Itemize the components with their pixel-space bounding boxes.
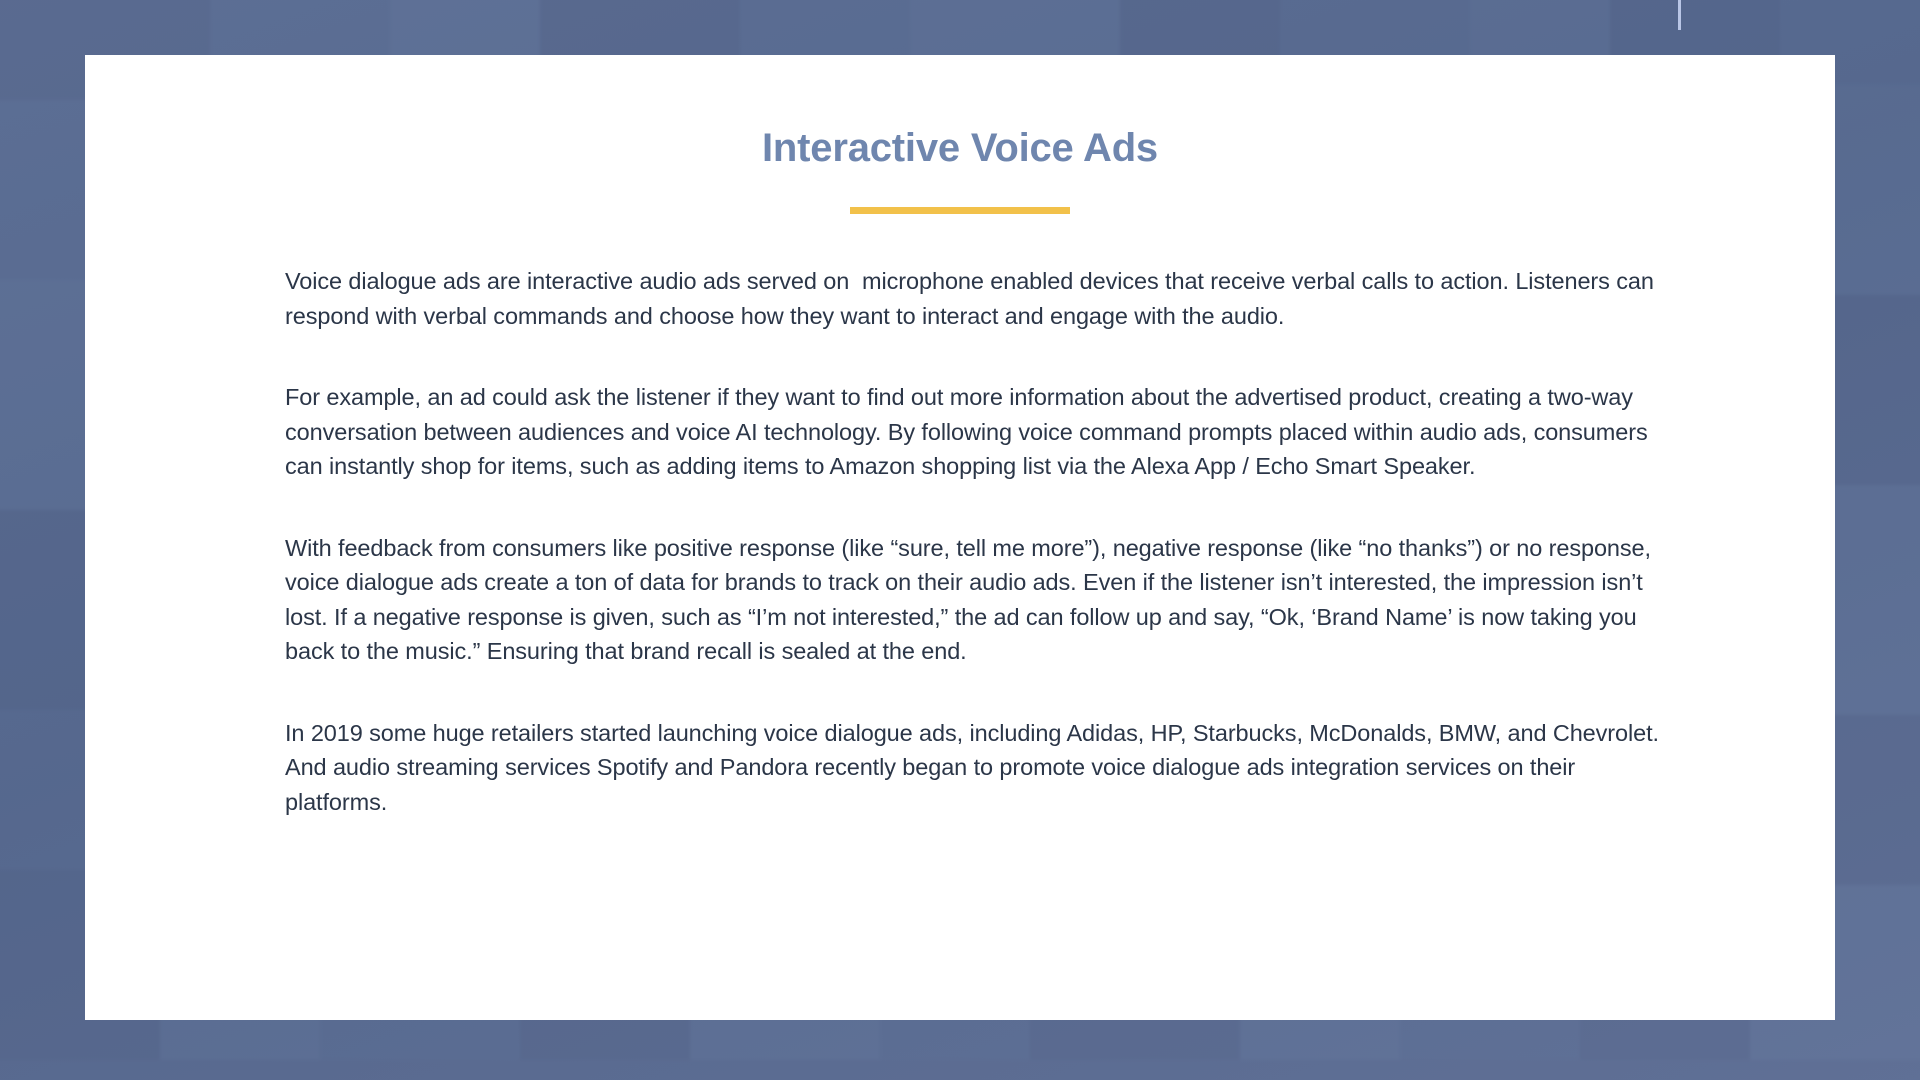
title-divider-container (85, 207, 1835, 214)
body-copy: Voice dialogue ads are interactive audio… (85, 264, 1835, 819)
body-paragraph: With feedback from consumers like positi… (285, 531, 1677, 669)
title-divider (850, 207, 1070, 214)
top-accent-line (1678, 0, 1681, 30)
body-paragraph: Voice dialogue ads are interactive audio… (285, 264, 1677, 333)
page-title: Interactive Voice Ads (85, 126, 1835, 171)
body-paragraph: In 2019 some huge retailers started laun… (285, 716, 1677, 820)
content-card: Interactive Voice Ads Voice dialogue ads… (85, 55, 1835, 1020)
body-paragraph: For example, an ad could ask the listene… (285, 380, 1677, 484)
